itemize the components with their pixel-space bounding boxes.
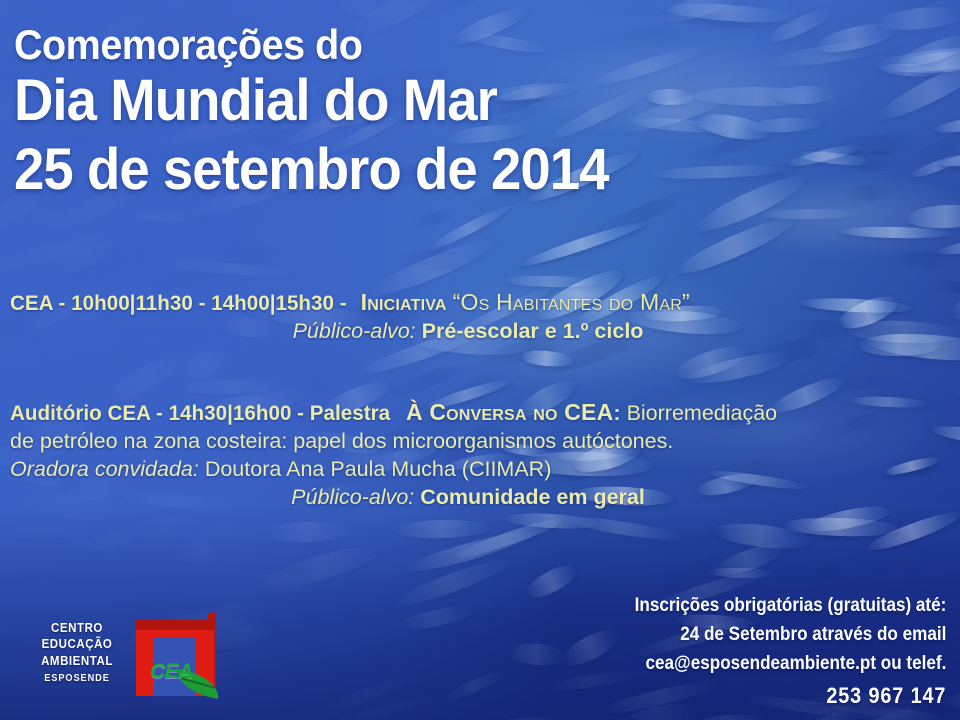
lecture-audience-label: Público-alvo: (291, 485, 414, 509)
lecture-audience-value: Comunidade em geral (420, 485, 645, 509)
lecture-speaker-line: Oradora convidada: Doutora Ana Paula Muc… (10, 456, 926, 484)
lecture-schedule-line: Auditório CEA - 14h30|16h00 - Palestra À… (10, 398, 926, 428)
poster-canvas: Comemorações do Dia Mundial do Mar 25 de… (0, 0, 960, 720)
activity-audience-line: Público-alvo: Pré-escolar e 1.º ciclo (10, 318, 926, 346)
heading-commemorations: Comemorações do (14, 22, 728, 67)
lecture-schedule-prefix: Auditório CEA - 14h30|16h00 - Palestra (10, 400, 390, 428)
cea-logo-mark: CEA (130, 614, 222, 702)
activity-block: CEA - 10h00|11h30 - 14h00|15h30 - Inicia… (10, 288, 926, 346)
logo-word-centro: CENTRO (30, 620, 124, 636)
activity-schedule-line: CEA - 10h00|11h30 - 14h00|15h30 - Inicia… (10, 288, 926, 318)
heading-date: 25 de setembro de 2014 (14, 136, 728, 204)
registration-email-line: cea@esposendeambiente.pt ou telef. (634, 650, 946, 679)
lecture-series-name: À Conversa no CEA (406, 399, 613, 425)
cea-logo-wordmark: CENTRO EDUCAÇÃO AMBIENTAL ESPOSENDE (26, 620, 128, 685)
lecture-topic-start: Biorremediação (621, 401, 778, 425)
activity-initiative-label: Iniciativa (361, 289, 447, 315)
activity-initiative-title: “Os Habitantes do Mar” (453, 289, 690, 315)
logo-arch-shadow-icon (136, 620, 214, 630)
logo-word-ambiental: AMBIENTAL (30, 653, 124, 669)
logo-word-educacao: EDUCAÇÃO (30, 636, 124, 652)
lecture-audience-line: Público-alvo: Comunidade em geral (10, 484, 926, 512)
lecture-block: Auditório CEA - 14h30|16h00 - Palestra À… (10, 398, 926, 512)
poster-headings: Comemorações do Dia Mundial do Mar 25 de… (14, 22, 774, 204)
logo-cea-text: CEA (150, 660, 193, 684)
lecture-colon: : (613, 401, 620, 425)
registration-line-2: 24 de Setembro através do email (634, 621, 946, 650)
logo-word-esposende: ESPOSENDE (30, 672, 124, 685)
lecture-speaker-value: Doutora Ana Paula Mucha (CIIMAR) (205, 457, 552, 481)
registration-info: Inscrições obrigatórias (gratuitas) até:… (600, 592, 946, 712)
heading-world-sea-day: Dia Mundial do Mar (14, 67, 728, 135)
activity-audience-value: Pré-escolar e 1.º ciclo (422, 319, 644, 343)
lecture-topic-continued: de petróleo na zona costeira: papel dos … (10, 428, 926, 456)
registration-phone: 253 967 147 (634, 679, 946, 712)
activity-schedule-prefix: CEA - 10h00|11h30 - 14h00|15h30 - (10, 290, 347, 318)
poster-content: Comemorações do Dia Mundial do Mar 25 de… (0, 0, 960, 720)
cea-logo: CENTRO EDUCAÇÃO AMBIENTAL ESPOSENDE CEA (26, 612, 226, 708)
activity-audience-label: Público-alvo: (293, 319, 416, 343)
registration-line-1: Inscrições obrigatórias (gratuitas) até: (634, 592, 946, 621)
lecture-speaker-label: Oradora convidada: (10, 457, 199, 481)
